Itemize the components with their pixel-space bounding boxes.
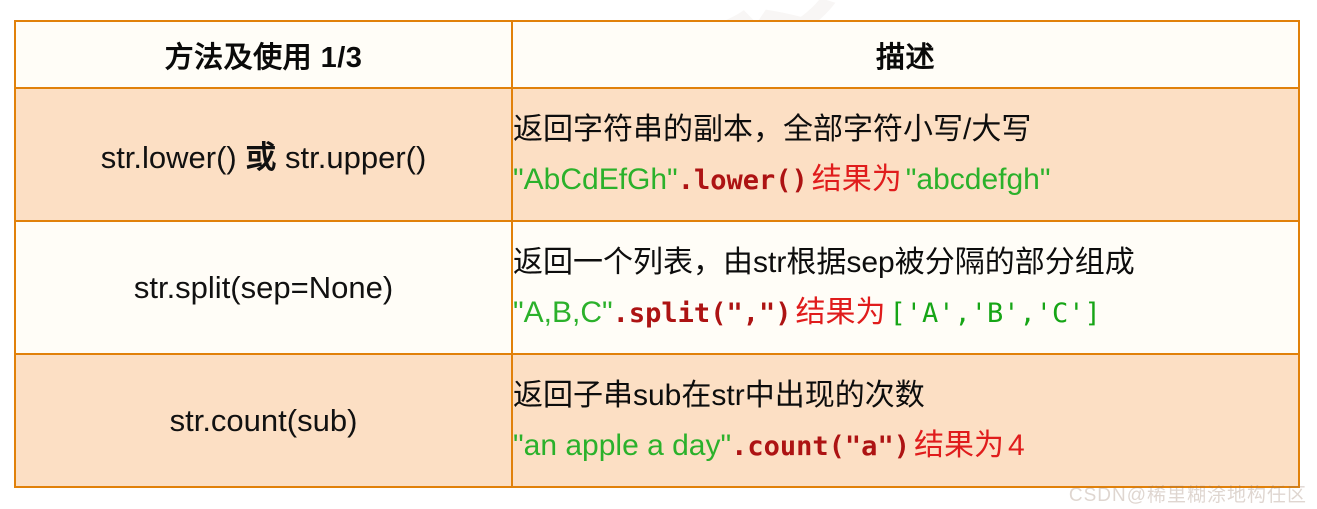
example-method-call: .count("a") — [731, 431, 910, 462]
example-result-value: "abcdefgh" — [906, 163, 1051, 196]
description-example: "A,B,C".split(",")结果为['A','B','C'] — [513, 291, 1298, 335]
description-text: 返回一个列表，由str根据sep被分隔的部分组成 — [513, 241, 1298, 285]
method-signature-prefix: str.split(sep=None) — [134, 270, 393, 305]
table-row: str.lower() 或 str.upper() 返回字符串的副本，全部字符小… — [15, 88, 1299, 221]
method-description-cell: 返回一个列表，由str根据sep被分隔的部分组成 "A,B,C".split("… — [512, 221, 1299, 354]
example-result-label: 结果为 — [791, 296, 889, 329]
description-example: "an apple a day".count("a")结果为4 — [513, 424, 1298, 468]
column-header-description: 描述 — [512, 21, 1299, 88]
example-method-call: .lower() — [678, 165, 808, 196]
description-example: "AbCdEfGh".lower()结果为"abcdefgh" — [513, 158, 1298, 202]
table-row: str.split(sep=None) 返回一个列表，由str根据sep被分隔的… — [15, 221, 1299, 354]
method-signature-prefix: str.lower() — [101, 140, 237, 175]
example-string-literal: "an apple a day" — [513, 429, 731, 462]
example-result-label: 结果为 — [910, 429, 1008, 462]
method-table-container: 方法及使用 1/3 描述 str.lower() 或 str.upper() 返… — [14, 20, 1300, 488]
method-description-cell: 返回子串sub在str中出现的次数 "an apple a day".count… — [512, 354, 1299, 487]
example-string-literal: "AbCdEfGh" — [513, 163, 678, 196]
table-header-row: 方法及使用 1/3 描述 — [15, 21, 1299, 88]
method-signature-cell: str.count(sub) — [15, 354, 512, 487]
method-description-cell: 返回字符串的副本，全部字符小写/大写 "AbCdEfGh".lower()结果为… — [512, 88, 1299, 221]
example-result-value: 4 — [1008, 429, 1025, 462]
method-signature-suffix: str.upper() — [285, 140, 426, 175]
method-signature-keyword: 或 — [245, 140, 276, 175]
csdn-watermark: CSDN@稀里糊涂地构任区 — [1069, 480, 1307, 507]
method-signature-cell: str.split(sep=None) — [15, 221, 512, 354]
method-signature-cell: str.lower() 或 str.upper() — [15, 88, 512, 221]
example-string-literal: "A,B,C" — [513, 296, 613, 329]
description-text: 返回子串sub在str中出现的次数 — [513, 374, 1298, 418]
description-text: 返回字符串的副本，全部字符小写/大写 — [513, 108, 1298, 152]
column-header-method: 方法及使用 1/3 — [15, 21, 512, 88]
example-method-call: .split(",") — [613, 298, 792, 329]
table-row: str.count(sub) 返回子串sub在str中出现的次数 "an app… — [15, 354, 1299, 487]
example-result-value: ['A','B','C'] — [889, 298, 1100, 329]
method-signature-prefix: str.count(sub) — [170, 403, 358, 438]
example-result-label: 结果为 — [808, 163, 906, 196]
string-methods-table: 方法及使用 1/3 描述 str.lower() 或 str.upper() 返… — [14, 20, 1300, 488]
